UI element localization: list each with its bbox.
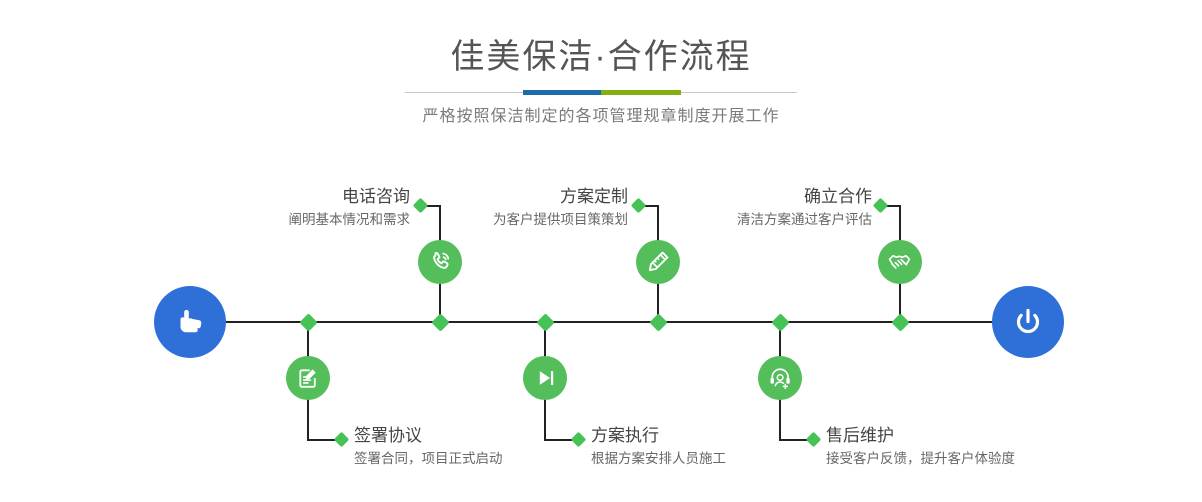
process-timeline: 电话咨询 阐明基本情况和需求 签署协议 签署合同，项目正式启动 bbox=[0, 0, 1202, 502]
step-label-5: 确立合作 清洁方案通过客户评估 bbox=[666, 185, 872, 231]
axis-marker-2 bbox=[299, 313, 317, 331]
timeline-start-node[interactable] bbox=[154, 286, 226, 358]
step-desc-6: 接受客户反馈，提升客户体验度 bbox=[826, 448, 1086, 470]
timeline-end-node[interactable] bbox=[992, 286, 1064, 358]
axis-marker-1 bbox=[431, 313, 449, 331]
step-title-5: 确立合作 bbox=[666, 185, 872, 209]
axis-marker-5 bbox=[891, 313, 909, 331]
step-title-6: 售后维护 bbox=[826, 424, 1086, 448]
step-icon-6[interactable] bbox=[758, 356, 802, 400]
power-icon bbox=[1008, 302, 1048, 342]
step-desc-5: 清洁方案通过客户评估 bbox=[666, 209, 872, 231]
step-desc-2: 签署合同，项目正式启动 bbox=[354, 448, 584, 470]
step-desc-1: 阐明基本情况和需求 bbox=[210, 209, 410, 231]
step-icon-3[interactable] bbox=[636, 240, 680, 284]
step-label-4: 方案执行 根据方案安排人员施工 bbox=[591, 424, 821, 470]
step-desc-3: 为客户提供项目策策划 bbox=[428, 209, 628, 231]
axis-marker-4 bbox=[536, 313, 554, 331]
step-label-1: 电话咨询 阐明基本情况和需求 bbox=[210, 185, 410, 231]
handshake-icon bbox=[886, 248, 914, 276]
step-icon-1[interactable] bbox=[418, 240, 462, 284]
label-marker-5 bbox=[873, 198, 889, 214]
label-marker-1 bbox=[413, 198, 429, 214]
axis-marker-3 bbox=[649, 313, 667, 331]
label-marker-3 bbox=[631, 198, 647, 214]
document-edit-icon bbox=[295, 365, 322, 392]
axis-marker-6 bbox=[771, 313, 789, 331]
step-icon-2[interactable] bbox=[286, 356, 330, 400]
label-marker-2 bbox=[334, 432, 350, 448]
headset-support-icon bbox=[767, 365, 794, 392]
step-title-4: 方案执行 bbox=[591, 424, 821, 448]
step-label-2: 签署协议 签署合同，项目正式启动 bbox=[354, 424, 584, 470]
step-title-2: 签署协议 bbox=[354, 424, 584, 448]
step-icon-4[interactable] bbox=[523, 356, 567, 400]
step-icon-5[interactable] bbox=[878, 240, 922, 284]
step-desc-4: 根据方案安排人员施工 bbox=[591, 448, 821, 470]
pencil-ruler-icon bbox=[644, 248, 672, 276]
phone-call-icon bbox=[426, 248, 454, 276]
step-label-3: 方案定制 为客户提供项目策策划 bbox=[428, 185, 628, 231]
step-title-3: 方案定制 bbox=[428, 185, 628, 209]
step-label-6: 售后维护 接受客户反馈，提升客户体验度 bbox=[826, 424, 1086, 470]
step-title-1: 电话咨询 bbox=[210, 185, 410, 209]
pointing-hand-icon bbox=[170, 302, 210, 342]
play-execute-icon bbox=[532, 365, 558, 391]
